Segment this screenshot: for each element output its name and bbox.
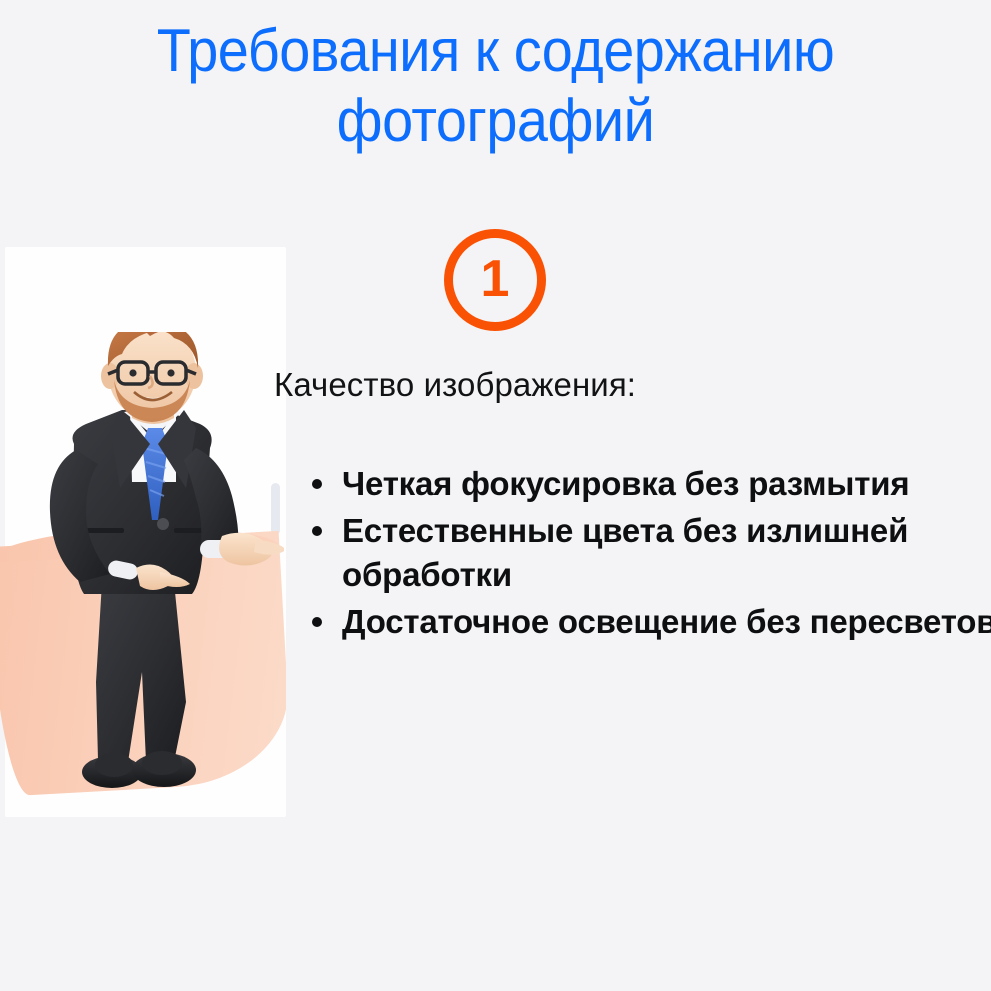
bullet-dot-icon — [312, 617, 322, 627]
list-item: Достаточное освещение без пересветов — [300, 600, 991, 644]
list-item-text: Естественные цвета без излишней обработк… — [342, 512, 908, 593]
list-item-text: Достаточное освещение без пересветов — [342, 603, 991, 640]
slide-canvas: Требования к содержанию фотографий 1 — [0, 0, 991, 991]
list-item: Естественные цвета без излишней обработк… — [300, 509, 991, 597]
bullet-dot-icon — [312, 479, 322, 489]
step-badge: 1 — [444, 229, 546, 331]
content-heading: Качество изображения: — [274, 366, 794, 404]
illustration — [0, 247, 286, 817]
requirements-list: Четкая фокусировка без размытия Естестве… — [300, 462, 991, 647]
page-title: Требования к содержанию фотографий — [35, 16, 957, 156]
bullet-dot-icon — [312, 526, 322, 536]
list-item: Четкая фокусировка без размытия — [300, 462, 991, 506]
list-item-text: Четкая фокусировка без размытия — [342, 465, 909, 502]
step-badge-number: 1 — [481, 253, 510, 305]
businessman-illustration — [24, 332, 284, 812]
